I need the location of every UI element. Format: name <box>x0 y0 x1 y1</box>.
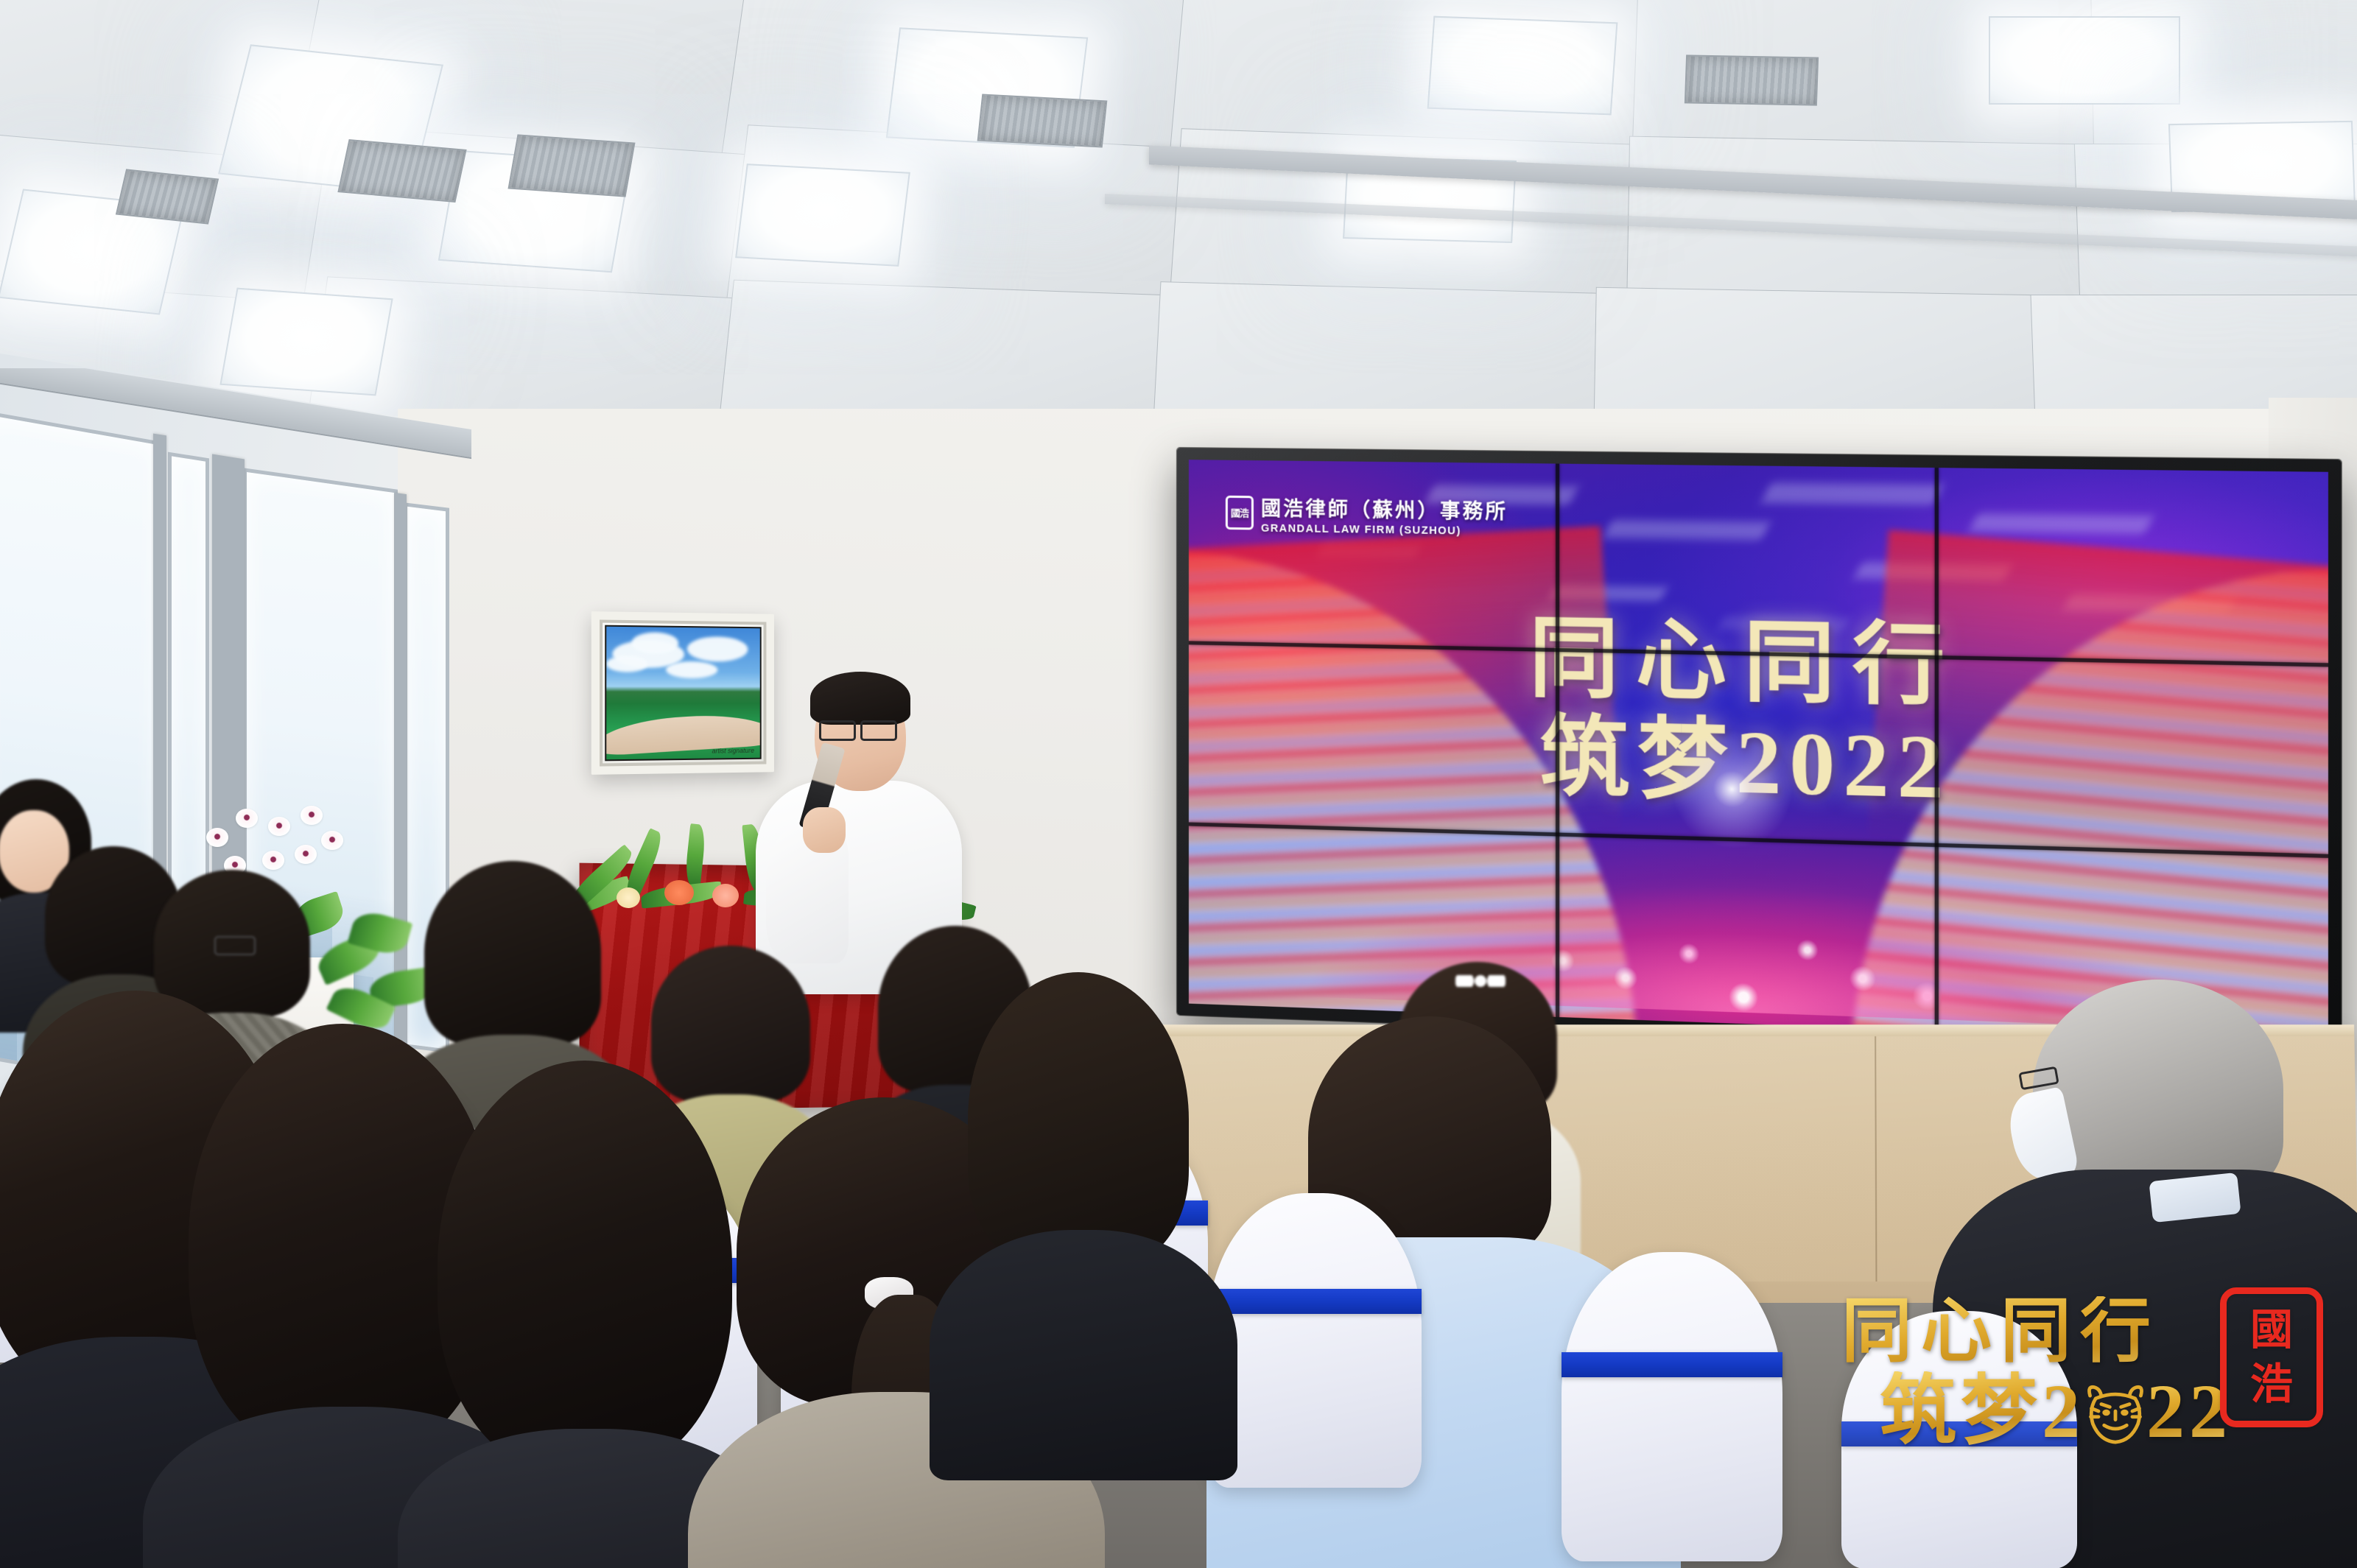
chair <box>1208 1193 1422 1488</box>
ceiling-vent <box>977 94 1108 148</box>
ceiling-vent <box>337 139 466 203</box>
ceiling-light-panel <box>1989 16 2180 105</box>
flower-bloom <box>712 884 739 907</box>
audience-member-foreground <box>950 972 1215 1429</box>
ceiling-vent <box>1685 55 1819 105</box>
firm-seal-glyph: 國浩 <box>1231 508 1248 518</box>
painting-signature: artist signature <box>712 747 754 755</box>
ceiling-light-panel <box>735 164 910 267</box>
ceiling-light-panel <box>1427 16 1618 116</box>
presenter-hair <box>810 672 910 725</box>
presenter-hand <box>803 807 846 853</box>
chair-sash <box>1841 1421 2077 1446</box>
chair <box>1562 1252 1782 1561</box>
firm-seal-icon: 國浩 <box>1226 496 1254 530</box>
hair-clip <box>1455 975 1506 987</box>
video-wall-screen: 國浩 國浩律師（蘇州）事務所 GRANDALL LAW FIRM (SUZHOU… <box>1189 460 2328 1045</box>
framed-landscape-painting: artist signature <box>591 611 774 775</box>
ceiling-vent <box>116 169 219 224</box>
presenter-glasses <box>819 720 856 741</box>
flower-bloom <box>664 880 694 905</box>
ceiling-vent <box>507 134 635 197</box>
video-wall-display[interactable]: 國浩 國浩律師（蘇州）事務所 GRANDALL LAW FIRM (SUZHOU… <box>1177 448 2342 1058</box>
presenter-glasses <box>860 720 897 741</box>
painting-canvas: artist signature <box>605 625 761 762</box>
panel-seam-vertical <box>1556 464 1559 1017</box>
chair <box>1841 1311 2077 1568</box>
flower-bloom <box>617 887 640 908</box>
chair-sash <box>1562 1352 1782 1377</box>
chair-sash <box>1208 1289 1422 1314</box>
audience-glasses <box>214 936 256 955</box>
firm-logo: 國浩 國浩律師（蘇州）事務所 GRANDALL LAW FIRM (SUZHOU… <box>1226 492 1508 538</box>
firm-name-chinese: 國浩律師（蘇州）事務所 <box>1261 492 1508 524</box>
conference-photo-scene: artist signature <box>0 0 2357 1568</box>
panel-seam-vertical <box>1935 468 1939 1031</box>
